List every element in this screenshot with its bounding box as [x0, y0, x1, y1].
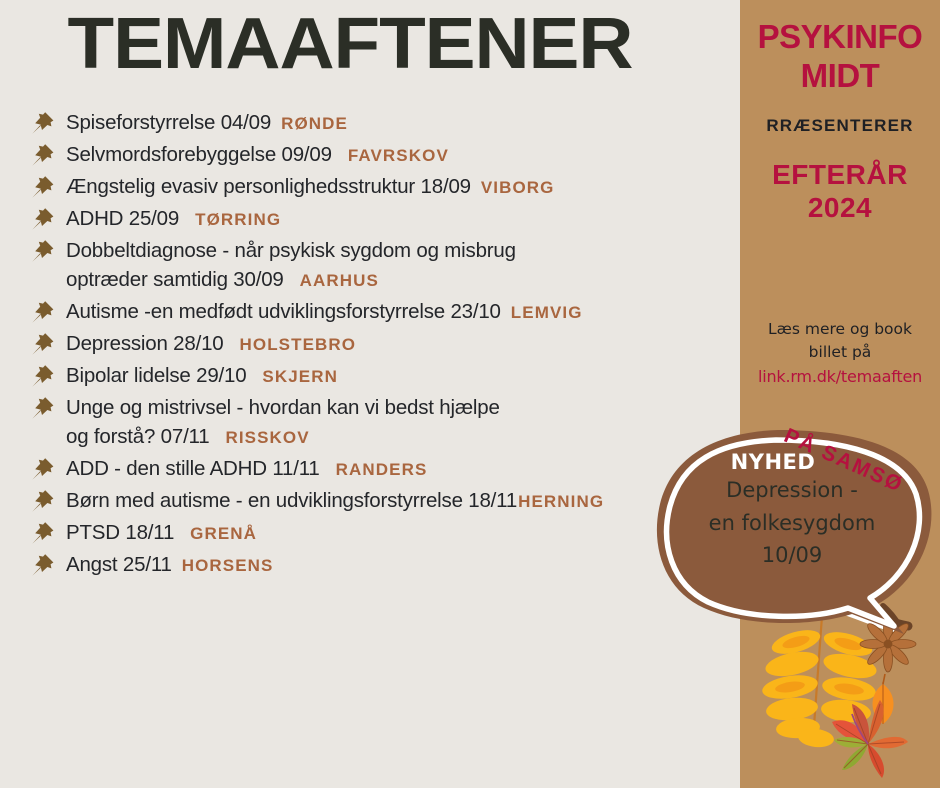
- event-city: FAVRSKOV: [348, 146, 449, 165]
- event-city: TØRRING: [195, 210, 281, 229]
- bubble-line-3: 10/09: [662, 539, 922, 572]
- pushpin-icon: [30, 456, 56, 482]
- event-city: GRENÅ: [190, 524, 257, 543]
- event-city: HOLSTEBRO: [240, 335, 357, 354]
- pushpin-icon: [30, 206, 56, 232]
- event-title: Ængstelig evasiv personlighedsstruktur 1…: [66, 175, 471, 198]
- pushpin-icon: [30, 520, 56, 546]
- pushpin-icon: [30, 299, 56, 325]
- news-speech-bubble: NYHED Depression - en folkesygdom 10/09: [652, 428, 940, 638]
- event-city: VIBORG: [481, 178, 555, 197]
- event-text: ADHD 25/09TØRRING: [66, 204, 281, 234]
- event-text: Børn med autisme - en udviklingsforstyrr…: [66, 486, 604, 516]
- event-title: PTSD 18/11: [66, 521, 174, 544]
- event-city: SKJERN: [262, 367, 338, 386]
- event-text: Bipolar lidelse 29/10SKJERN: [66, 361, 338, 391]
- event-text: Ængstelig evasiv personlighedsstruktur 1…: [66, 172, 555, 202]
- event-list-item[interactable]: Autisme -en medfødt udviklingsforstyrrel…: [0, 297, 745, 327]
- event-title: Selvmordsforebyggelse 09/09: [66, 143, 332, 166]
- event-list-item[interactable]: Depression 28/10HOLSTEBRO: [0, 329, 745, 359]
- event-text: ADD - den stille ADHD 11/11RANDERS: [66, 454, 427, 484]
- event-title: ADD - den stille ADHD 11/11: [66, 457, 320, 480]
- event-title-line: og forstå? 07/11RISSKOV: [66, 422, 500, 452]
- event-title: Angst 25/11: [66, 553, 172, 576]
- event-city: HERNING: [518, 492, 604, 511]
- event-list-item[interactable]: Børn med autisme - en udviklingsforstyrr…: [0, 486, 745, 516]
- pushpin-icon: [30, 238, 56, 264]
- pushpin-icon: [30, 488, 56, 514]
- pushpin-icon: [30, 174, 56, 200]
- pushpin-icon: [30, 552, 56, 578]
- event-city: RANDERS: [336, 460, 428, 479]
- event-title: Autisme -en medfødt udviklingsforstyrrel…: [66, 300, 501, 323]
- event-title-continued: og forstå? 07/11: [66, 425, 209, 448]
- pushpin-icon: [30, 331, 56, 357]
- event-title: ADHD 25/09: [66, 207, 179, 230]
- event-city: LEMVIG: [511, 303, 583, 322]
- event-title: Bipolar lidelse 29/10: [66, 364, 246, 387]
- event-list-item[interactable]: ADHD 25/09TØRRING: [0, 204, 745, 234]
- event-title: Depression 28/10: [66, 332, 224, 355]
- event-text: Selvmordsforebyggelse 09/09FAVRSKOV: [66, 140, 449, 170]
- booking-info: Læs mere og book billet på link.rm.dk/te…: [740, 318, 940, 389]
- pushpin-icon: [30, 363, 56, 389]
- bubble-line-2: en folkesygdom: [662, 507, 922, 540]
- event-city: HORSENS: [182, 556, 274, 575]
- pushpin-icon: [30, 142, 56, 168]
- event-text: Angst 25/11HORSENS: [66, 550, 273, 580]
- pushpin-icon: [30, 395, 56, 421]
- event-city: RISSKOV: [225, 428, 309, 447]
- event-list-item[interactable]: PTSD 18/11GRENÅ: [0, 518, 745, 548]
- booking-line-2: billet på: [744, 341, 936, 364]
- main-content-column: TEMAAFTENER Spiseforstyrrelse 04/09RØNDE…: [0, 0, 740, 788]
- event-list: Spiseforstyrrelse 04/09RØNDESelvmordsfor…: [0, 108, 745, 582]
- sidebar: PSYKINFO MIDT RRÆSENTERER EFTERÅR 2024 L…: [740, 0, 940, 788]
- season-line-1: EFTERÅR: [740, 158, 940, 192]
- event-list-item[interactable]: Unge og mistrivsel - hvordan kan vi beds…: [0, 393, 745, 452]
- event-text: PTSD 18/11GRENÅ: [66, 518, 257, 548]
- poster-canvas: TEMAAFTENER Spiseforstyrrelse 04/09RØNDE…: [0, 0, 940, 788]
- event-text: Depression 28/10HOLSTEBRO: [66, 329, 356, 359]
- event-title-continued: optræder samtidig 30/09: [66, 268, 284, 291]
- event-title: Spiseforstyrrelse 04/09: [66, 111, 271, 134]
- booking-line-1: Læs mere og book: [744, 318, 936, 341]
- event-title-line: optræder samtidig 30/09AARHUS: [66, 265, 516, 295]
- event-city: AARHUS: [300, 271, 379, 290]
- event-city: RØNDE: [281, 114, 348, 133]
- event-list-item[interactable]: Selvmordsforebyggelse 09/09FAVRSKOV: [0, 140, 745, 170]
- event-list-item[interactable]: Ængstelig evasiv personlighedsstruktur 1…: [0, 172, 745, 202]
- brand-line-2: MIDT: [746, 57, 934, 96]
- event-title-line: Dobbeltdiagnose - når psykisk sygdom og …: [66, 236, 516, 265]
- event-text: Unge og mistrivsel - hvordan kan vi beds…: [66, 393, 500, 452]
- brand-line-1: PSYKINFO: [746, 18, 934, 57]
- event-title-line: Unge og mistrivsel - hvordan kan vi beds…: [66, 393, 500, 422]
- page-title: TEMAAFTENER: [0, 8, 721, 80]
- booking-link[interactable]: link.rm.dk/temaaften: [744, 365, 936, 389]
- event-list-item[interactable]: Angst 25/11HORSENS: [0, 550, 745, 580]
- brand-title: PSYKINFO MIDT: [740, 18, 940, 96]
- event-title: Børn med autisme - en udviklingsforstyrr…: [66, 489, 517, 512]
- event-list-item[interactable]: Spiseforstyrrelse 04/09RØNDE: [0, 108, 745, 138]
- event-text: Dobbeltdiagnose - når psykisk sygdom og …: [66, 236, 516, 295]
- event-list-item[interactable]: Bipolar lidelse 29/10SKJERN: [0, 361, 745, 391]
- event-list-item[interactable]: Dobbeltdiagnose - når psykisk sygdom og …: [0, 236, 745, 295]
- season-line-2: 2024: [740, 191, 940, 225]
- event-text: Spiseforstyrrelse 04/09RØNDE: [66, 108, 348, 138]
- season-heading: EFTERÅR 2024: [740, 158, 940, 225]
- presenter-label: RRÆSENTERER: [740, 116, 940, 136]
- pushpin-icon: [30, 110, 56, 136]
- event-text: Autisme -en medfødt udviklingsforstyrrel…: [66, 297, 583, 327]
